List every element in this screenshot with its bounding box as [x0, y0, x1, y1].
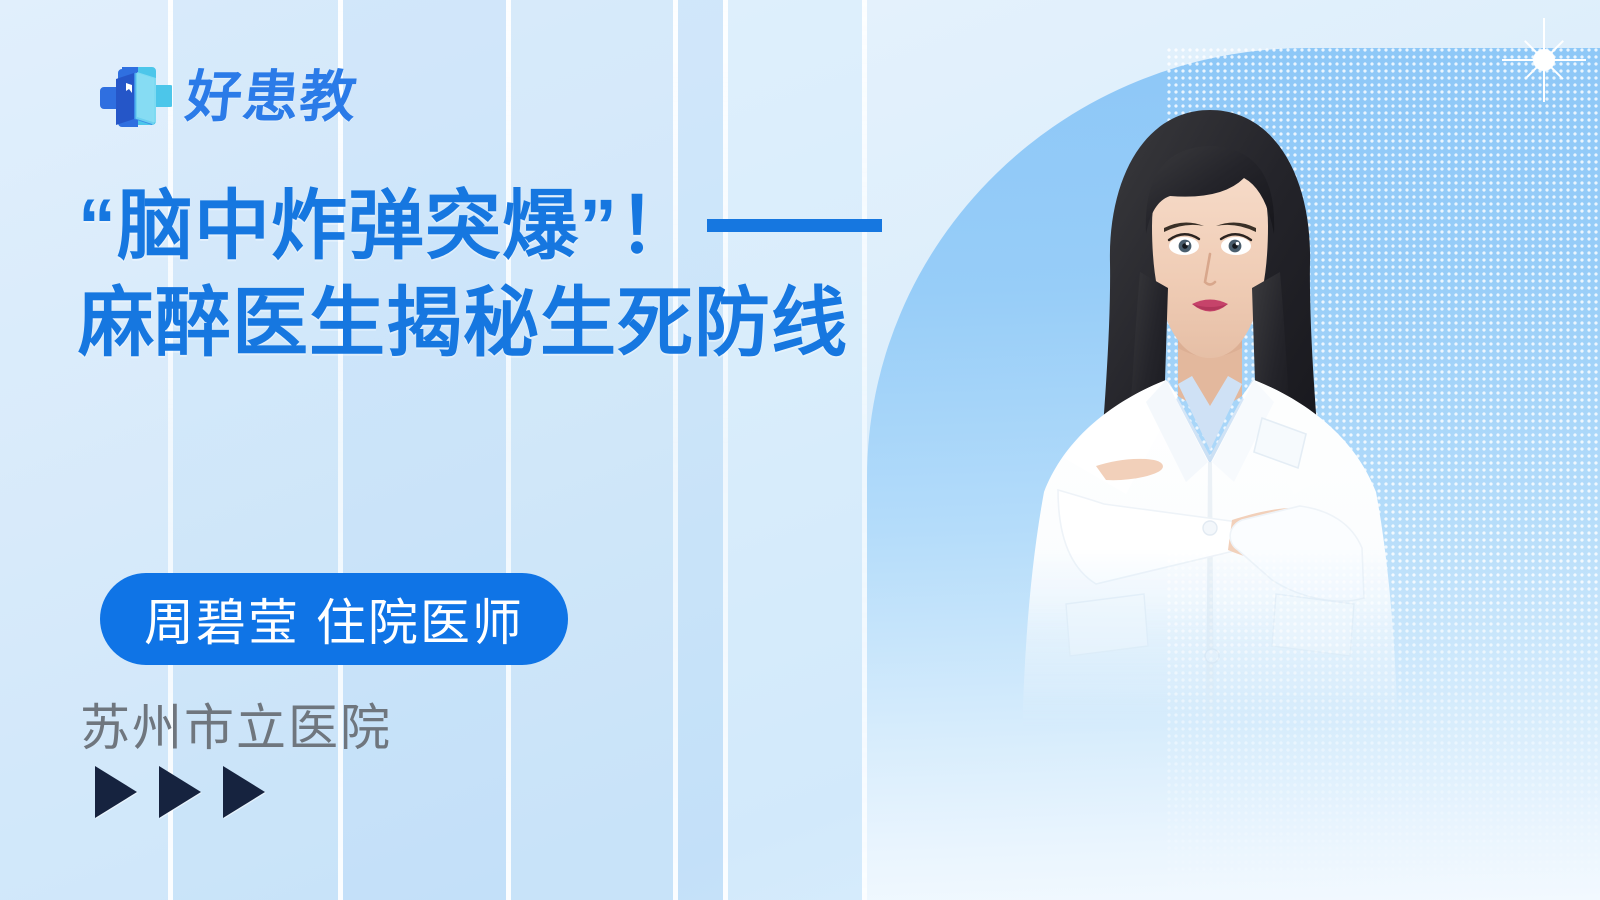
stripe-band-6	[728, 0, 867, 900]
stripe-band-5	[678, 0, 723, 900]
poster-canvas: 好患教 “脑中炸弹突爆”！ 麻醉医生揭秘生死防线 周碧莹 住院医师 苏州市立医院	[0, 0, 1600, 900]
stripe-separator-3	[506, 0, 511, 900]
headline-line-1-text: “脑中炸弹突爆”！	[78, 184, 695, 269]
triangle-right-icon-2	[159, 766, 201, 818]
stripe-band-3	[343, 0, 506, 900]
hospital-name: 苏州市立医院	[80, 688, 392, 760]
headline-line-1: “脑中炸弹突爆”！	[78, 178, 958, 275]
brand-logo-text: 好患教	[183, 69, 360, 125]
triangle-right-icon-3	[223, 766, 265, 818]
medical-cross-book-icon	[88, 55, 172, 139]
brand-logo[interactable]: 好患教	[88, 55, 357, 139]
speaker-name-text: 周碧莹 住院医师	[144, 583, 524, 655]
em-dash-rule	[707, 219, 882, 232]
stripe-separator-5	[723, 0, 728, 900]
play-arrows	[95, 766, 265, 818]
speaker-name-badge[interactable]: 周碧莹 住院医师	[100, 573, 568, 665]
stripe-separator-4	[673, 0, 678, 900]
page-title: “脑中炸弹突爆”！ 麻醉医生揭秘生死防线	[78, 178, 958, 373]
doctor-photo	[1000, 58, 1420, 738]
headline-line-2: 麻醉医生揭秘生死防线	[78, 275, 958, 372]
stripe-band-4	[511, 0, 673, 900]
triangle-right-icon-1	[95, 766, 137, 818]
